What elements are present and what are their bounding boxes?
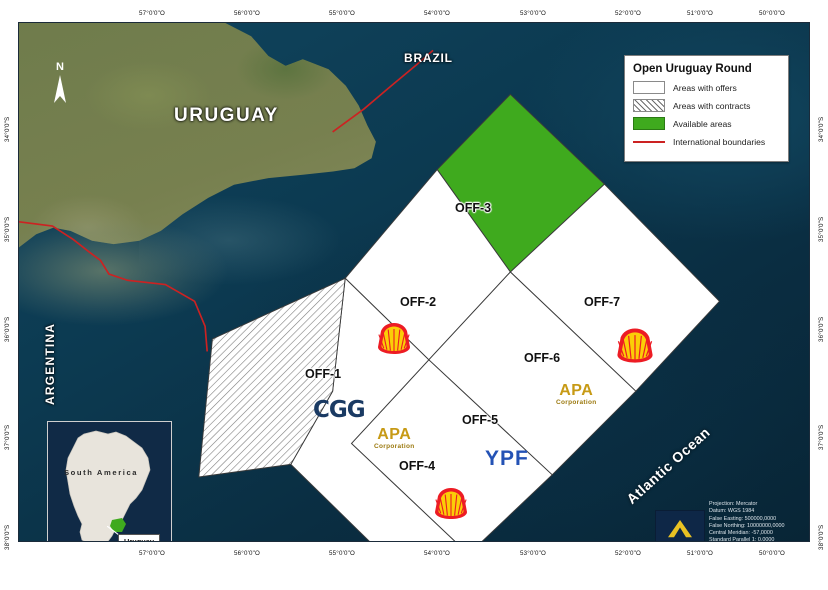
legend-swatch-available-icon <box>633 117 665 130</box>
projection-line-4: False Northing: 10000000,0000 <box>709 523 810 530</box>
legend-item-offers[interactable]: Areas with offers <box>633 81 780 94</box>
lon-label-51-bottom: 51°0'0"O <box>687 550 713 557</box>
lon-label-57-bottom: 57°0'0"O <box>139 550 165 557</box>
south-america-shape <box>56 428 164 542</box>
block-label-off-5: OFF-5 <box>462 413 498 427</box>
lon-label-55-bottom: 55°0'0"O <box>329 550 355 557</box>
projection-line-2: Datum: WGS 1984 <box>709 508 810 515</box>
lon-label-54: 54°0'0"O <box>424 10 450 17</box>
legend-swatch-contracts-icon <box>633 99 665 112</box>
block-label-off-3: OFF-3 <box>455 201 491 215</box>
legend-swatch-offers-icon <box>633 81 665 94</box>
lat-label-34-right: 34°0'0"S <box>818 117 825 142</box>
inset-continent-label: South America <box>64 468 138 477</box>
projection-line-6: Standard Parallel 1: 0,0000 <box>709 537 810 542</box>
lon-label-52-bottom: 52°0'0"O <box>615 550 641 557</box>
apa-logo-subtext: Corporation <box>556 400 597 407</box>
lon-label-53: 53°0'0"O <box>520 10 546 17</box>
apa-logo-text: APA <box>556 383 597 399</box>
country-label-brazil: BRAZIL <box>404 51 453 65</box>
legend-swatch-boundary-icon <box>633 135 665 148</box>
legend-label-offers: Areas with offers <box>673 83 737 93</box>
ancap-chevron-icon <box>665 517 695 541</box>
country-label-uruguay: URUGUAY <box>174 105 279 127</box>
legend-label-boundaries: International boundaries <box>673 137 765 147</box>
north-arrow-icon: N <box>49 59 71 105</box>
operator-logo-cgg[interactable]: CGG <box>313 397 365 423</box>
operator-logo-ypf[interactable]: YPF <box>485 447 529 471</box>
block-label-off-7: OFF-7 <box>584 295 620 309</box>
lat-label-35: 35°0'0"S <box>4 217 11 242</box>
legend-item-contracts[interactable]: Areas with contracts <box>633 99 780 112</box>
lat-label-38-right: 38°0'0"S <box>818 525 825 550</box>
lon-label-54-bottom: 54°0'0"O <box>424 550 450 557</box>
block-label-off-1: OFF-1 <box>305 367 341 381</box>
inset-locator-map[interactable]: South America Uruguay <box>47 421 172 542</box>
legend-panel[interactable]: Open Uruguay Round Areas with offers Are… <box>624 55 789 162</box>
operator-logo-apa-off6[interactable]: APA Corporation <box>556 383 597 407</box>
map-screenshot: 57°0'0"O 56°0'0"O 55°0'0"O 54°0'0"O 53°0… <box>0 0 828 590</box>
map-frame[interactable]: OFF-1 OFF-2 OFF-3 OFF-4 OFF-5 OFF-6 OFF-… <box>18 22 810 542</box>
lon-label-56: 56°0'0"O <box>234 10 260 17</box>
operator-logo-shell-off4[interactable] <box>431 485 471 521</box>
lon-label-50-bottom: 50°0'0"O <box>759 550 785 557</box>
lat-label-35-right: 35°0'0"S <box>818 217 825 242</box>
lat-label-36: 36°0'0"S <box>4 317 11 342</box>
projection-info-box: Projection: Mercator Datum: WGS 1984 Fal… <box>709 501 810 542</box>
lon-label-52: 52°0'0"O <box>615 10 641 17</box>
lon-label-56-bottom: 56°0'0"O <box>234 550 260 557</box>
block-label-off-6: OFF-6 <box>524 351 560 365</box>
operator-logo-shell-off7[interactable] <box>613 325 657 365</box>
inset-country-label: Uruguay <box>118 534 160 542</box>
operator-logo-shell-off2[interactable] <box>374 320 414 356</box>
country-label-argentina: ARGENTINA <box>43 323 57 405</box>
legend-label-contracts: Areas with contracts <box>673 101 750 111</box>
lat-label-37: 37°0'0"S <box>4 425 11 450</box>
lon-label-55: 55°0'0"O <box>329 10 355 17</box>
legend-item-boundaries[interactable]: International boundaries <box>633 135 780 148</box>
lon-label-53-bottom: 53°0'0"O <box>520 550 546 557</box>
block-label-off-2: OFF-2 <box>400 295 436 309</box>
projection-line-5: Central Meridian: -57,0000 <box>709 530 810 537</box>
apa-logo-subtext: Corporation <box>374 444 415 451</box>
legend-item-available[interactable]: Available areas <box>633 117 780 130</box>
lon-label-51: 51°0'0"O <box>687 10 713 17</box>
legend-title: Open Uruguay Round <box>633 63 780 75</box>
lat-label-37-right: 37°0'0"S <box>818 425 825 450</box>
lon-label-57: 57°0'0"O <box>139 10 165 17</box>
apa-logo-text: APA <box>374 427 415 443</box>
svg-text:N: N <box>56 61 64 73</box>
block-label-off-4: OFF-4 <box>399 459 435 473</box>
operator-logo-apa-off4[interactable]: APA Corporation <box>374 427 415 451</box>
projection-line-3: False Easting: 500000,0000 <box>709 516 810 523</box>
lat-label-36-right: 36°0'0"S <box>818 317 825 342</box>
lat-label-34: 34°0'0"S <box>4 117 11 142</box>
legend-label-available: Available areas <box>673 119 732 129</box>
ancap-logo[interactable]: ANCAP <box>655 510 705 542</box>
projection-line-1: Projection: Mercator <box>709 501 810 508</box>
lat-label-38: 38°0'0"S <box>4 525 11 550</box>
lon-label-50: 50°0'0"O <box>759 10 785 17</box>
